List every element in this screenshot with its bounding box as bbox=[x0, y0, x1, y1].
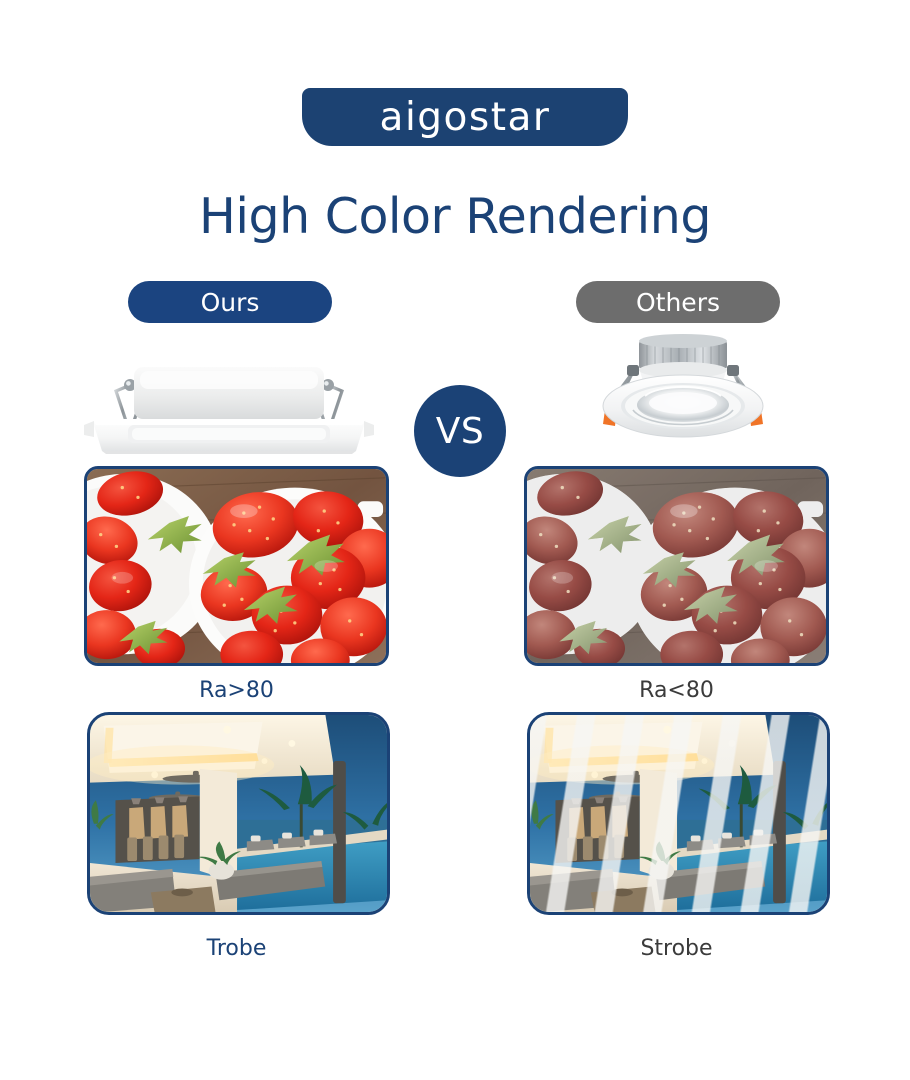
round-downlight-illustration bbox=[575, 330, 790, 450]
square-panel-illustration bbox=[70, 355, 390, 465]
vs-badge-text: VS bbox=[436, 411, 484, 452]
vs-badge: VS bbox=[414, 385, 506, 477]
brand-logo-text: aigostar bbox=[380, 98, 551, 137]
photo-strawberries-vivid bbox=[84, 466, 389, 666]
photo-strawberries-dull bbox=[524, 466, 829, 666]
caption-trobe: Trobe bbox=[84, 936, 389, 961]
page-title: High Color Rendering bbox=[0, 188, 910, 245]
photo-room-strobe bbox=[527, 712, 830, 915]
column-label-ours: Ours bbox=[128, 281, 332, 323]
column-label-ours-text: Ours bbox=[201, 288, 260, 317]
infographic-page: aigostar High Color Rendering Ours Other… bbox=[0, 0, 910, 1080]
room-steady-illustration bbox=[90, 715, 387, 912]
strawberries-vivid-illustration bbox=[87, 469, 386, 663]
caption-ra-above-80: Ra>80 bbox=[84, 678, 389, 703]
caption-strobe: Strobe bbox=[524, 936, 829, 961]
strawberries-dull-illustration bbox=[527, 469, 826, 663]
column-label-others: Others bbox=[576, 281, 780, 323]
product-image-round-downlight bbox=[575, 330, 790, 450]
photo-room-steady bbox=[87, 712, 390, 915]
room-strobe-illustration bbox=[530, 715, 827, 912]
caption-ra-below-80: Ra<80 bbox=[524, 678, 829, 703]
product-image-square-panel bbox=[70, 355, 390, 465]
brand-banner: aigostar bbox=[302, 88, 628, 146]
column-label-others-text: Others bbox=[636, 288, 720, 317]
